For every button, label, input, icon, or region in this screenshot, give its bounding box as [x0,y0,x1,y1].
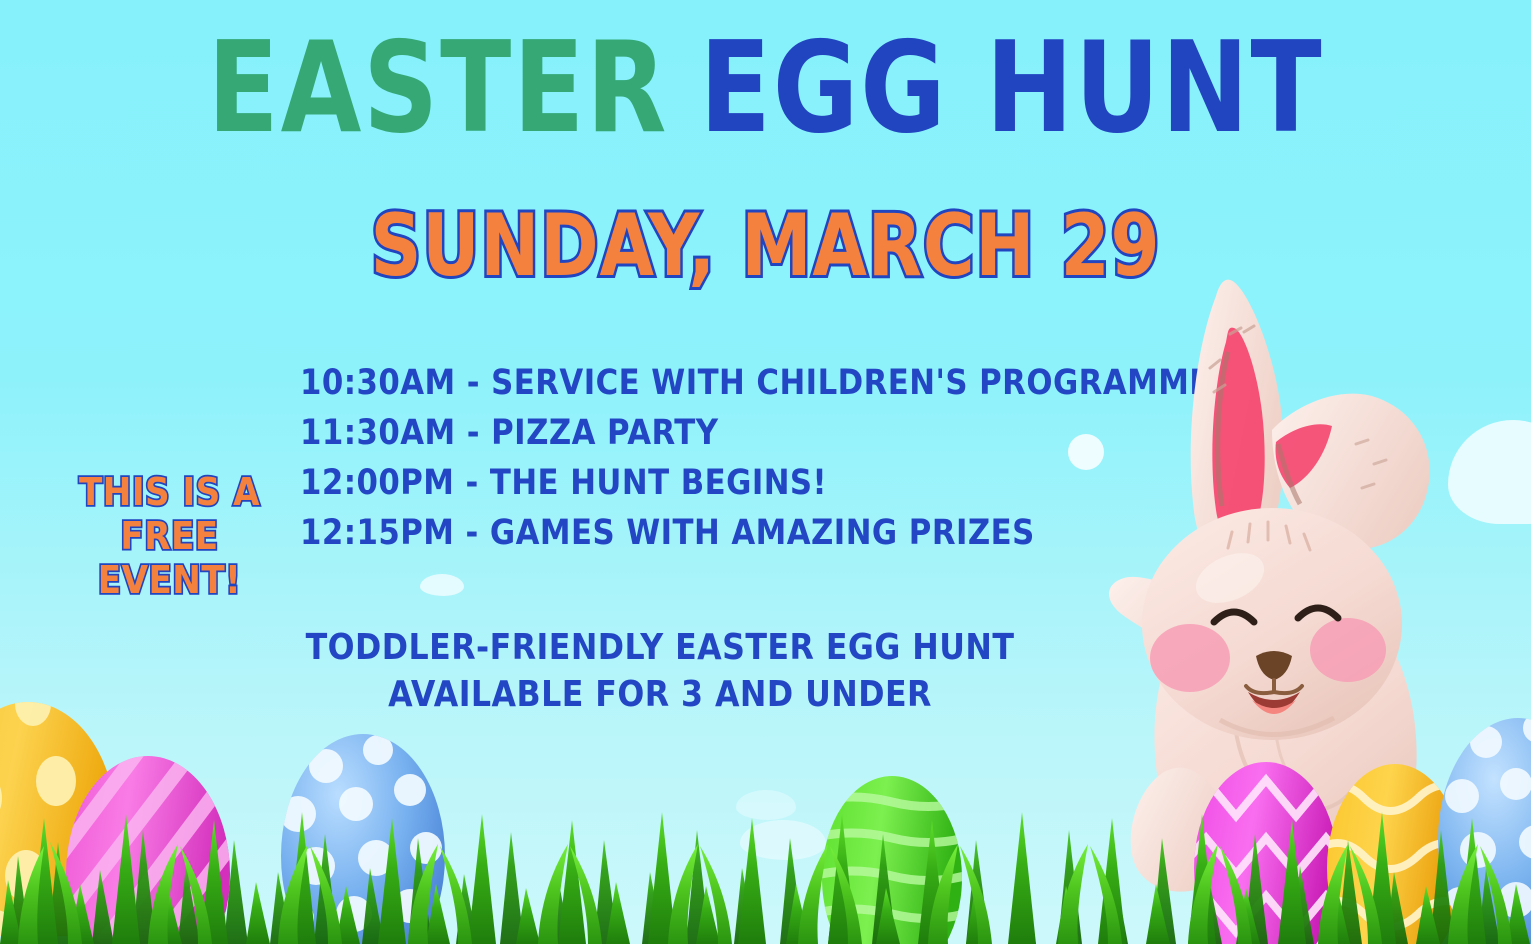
grass-foreground [0,784,1531,944]
free-event-line: FREE [73,514,267,558]
schedule-item: 12:15PM - GAMES WITH AMAZING PRIZES [300,508,1110,558]
toddler-note: TODDLER-FRIENDLY EASTER EGG HUNT AVAILAB… [250,624,1070,718]
easter-egg-hunt-poster: EASTEREGG HUNT SUNDAY, MARCH 29 10:30AM … [0,0,1531,944]
toddler-note-line: TODDLER-FRIENDLY EASTER EGG HUNT [299,624,1021,671]
cloud-big-right-icon [1448,420,1531,524]
title-word-egg-hunt: EGG HUNT [700,14,1324,161]
schedule-list: 10:30AM - SERVICE WITH CHILDREN'S PROGRA… [300,358,1220,558]
schedule-item: 11:30AM - PIZZA PARTY [300,408,1110,458]
title-word-easter: EASTER [208,14,669,161]
cloud-wisp-left-icon [420,574,464,596]
schedule-item: 12:00PM - THE HUNT BEGINS! [300,458,1110,508]
toddler-note-line: AVAILABLE FOR 3 AND UNDER [299,671,1021,718]
free-event-line: THIS IS A [73,470,267,514]
free-event-badge: THIS IS A FREE EVENT! [62,470,277,602]
free-event-line: EVENT! [73,558,267,602]
page-title: EASTEREGG HUNT [61,22,1470,154]
schedule-item: 10:30AM - SERVICE WITH CHILDREN'S PROGRA… [300,358,1110,408]
